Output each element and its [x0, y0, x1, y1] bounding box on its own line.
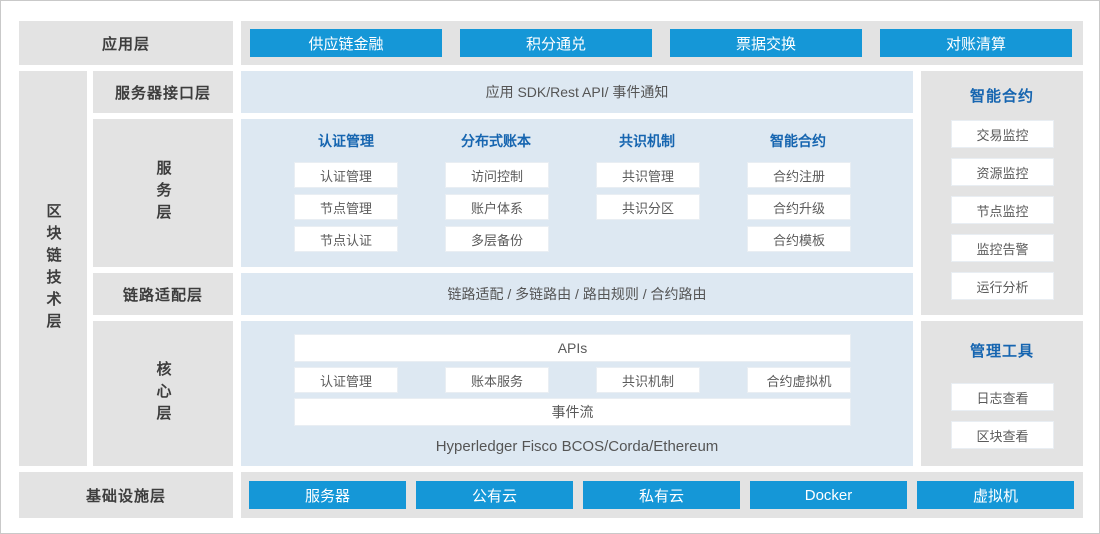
side-panel-item[interactable]: 区块查看 [951, 421, 1054, 449]
infrastructure-item-server[interactable]: 服务器 [249, 481, 406, 509]
service-cell[interactable]: 访问控制 [445, 162, 549, 188]
infrastructure-item-public-cloud[interactable]: 公有云 [416, 481, 573, 509]
side-panel-item[interactable]: 资源监控 [951, 158, 1054, 186]
infrastructure-item-label: 公有云 [472, 485, 517, 506]
service-cell[interactable]: 合约模板 [747, 226, 851, 252]
link-adapter-layer-label: 链路适配层 [123, 284, 203, 305]
service-layer-label-box: 服务层 [93, 119, 233, 267]
core-module-cell[interactable]: 账本服务 [445, 367, 549, 393]
application-item-label: 票据交换 [736, 33, 796, 54]
infrastructure-item-label: 服务器 [305, 485, 350, 506]
server-interface-layer-label-box: 服务器接口层 [93, 71, 233, 113]
server-interface-layer-label: 服务器接口层 [115, 82, 211, 103]
infrastructure-item-label: 虚拟机 [973, 485, 1018, 506]
application-item-label: 供应链金融 [308, 33, 383, 54]
service-cell[interactable]: 多层备份 [445, 226, 549, 252]
server-interface-band-text: 应用 SDK/Rest API/ 事件通知 [241, 71, 913, 113]
core-platform-footer: Hyperledger Fisco BCOS/Corda/Ethereum [241, 431, 913, 461]
service-column-header-ledger: 分布式账本 [441, 129, 551, 153]
service-cell[interactable]: 合约注册 [747, 162, 851, 188]
service-cell[interactable]: 认证管理 [294, 162, 398, 188]
application-item-supply-chain-finance[interactable]: 供应链金融 [250, 29, 442, 57]
infrastructure-layer-label: 基础设施层 [86, 485, 166, 506]
core-event-stream-bar[interactable]: 事件流 [294, 398, 851, 426]
application-layer-label: 应用层 [102, 33, 150, 54]
blockchain-tech-layer-label-box: 区块链技术层 [19, 71, 87, 466]
service-column-header-consensus: 共识机制 [592, 129, 702, 153]
infrastructure-item-virtual-machine[interactable]: 虚拟机 [917, 481, 1074, 509]
core-apis-bar[interactable]: APIs [294, 334, 851, 362]
service-cell[interactable]: 节点认证 [294, 226, 398, 252]
infrastructure-layer-label-box: 基础设施层 [19, 472, 233, 518]
core-module-cell[interactable]: 合约虚拟机 [747, 367, 851, 393]
application-item-points-exchange[interactable]: 积分通兑 [460, 29, 652, 57]
infrastructure-item-label: Docker [805, 487, 853, 504]
application-layer-label-box: 应用层 [19, 21, 233, 65]
service-column-header-auth: 认证管理 [291, 129, 401, 153]
service-column-header-contract: 智能合约 [743, 129, 853, 153]
blockchain-tech-layer-label: 区块链技术层 [46, 203, 61, 335]
core-module-cell[interactable]: 共识机制 [596, 367, 700, 393]
side-panel-item[interactable]: 交易监控 [951, 120, 1054, 148]
core-layer-label-box: 核心层 [93, 321, 233, 466]
link-adapter-layer-label-box: 链路适配层 [93, 273, 233, 315]
side-panel-item[interactable]: 监控告警 [951, 234, 1054, 262]
service-cell[interactable]: 共识管理 [596, 162, 700, 188]
link-adapter-band-text: 链路适配 / 多链路由 / 路由规则 / 合约路由 [241, 273, 913, 315]
side-panel-item[interactable]: 运行分析 [951, 272, 1054, 300]
side-panel-smart-contract-title: 智能合约 [921, 83, 1083, 107]
side-panel-management-tools-title: 管理工具 [921, 338, 1083, 362]
service-layer-label: 服务层 [156, 160, 171, 226]
infrastructure-item-label: 私有云 [639, 485, 684, 506]
application-item-reconciliation-settlement[interactable]: 对账清算 [880, 29, 1072, 57]
service-cell[interactable]: 节点管理 [294, 194, 398, 220]
service-cell[interactable]: 合约升级 [747, 194, 851, 220]
architecture-diagram: 应用层 供应链金融 积分通兑 票据交换 对账清算 区块链技术层 服务器接口层 应… [0, 0, 1100, 534]
infrastructure-item-docker[interactable]: Docker [750, 481, 907, 509]
core-layer-label: 核心层 [156, 361, 171, 427]
infrastructure-item-private-cloud[interactable]: 私有云 [583, 481, 740, 509]
service-cell[interactable]: 账户体系 [445, 194, 549, 220]
side-panel-item[interactable]: 节点监控 [951, 196, 1054, 224]
application-item-bill-exchange[interactable]: 票据交换 [670, 29, 862, 57]
service-cell[interactable]: 共识分区 [596, 194, 700, 220]
side-panel-item[interactable]: 日志查看 [951, 383, 1054, 411]
application-item-label: 对账清算 [946, 33, 1006, 54]
application-item-label: 积分通兑 [526, 33, 586, 54]
core-module-cell[interactable]: 认证管理 [294, 367, 398, 393]
